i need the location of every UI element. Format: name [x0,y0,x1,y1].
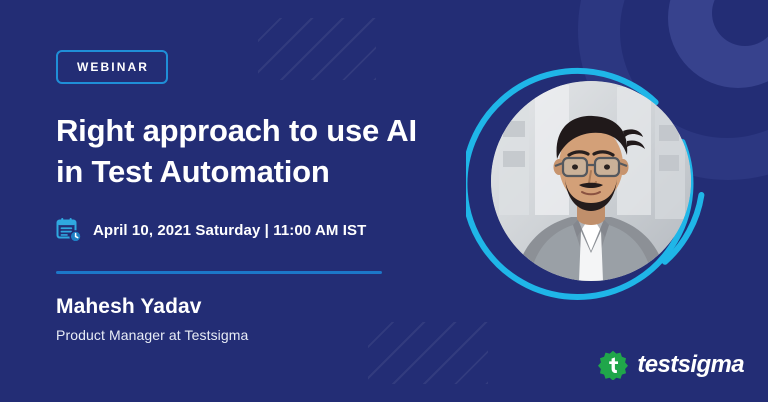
portrait-illustration [491,81,691,281]
datetime-row: April 10, 2021 Saturday | 11:00 AM IST [56,217,456,243]
testsigma-logo: testsigma [598,350,744,380]
webinar-banner: WEBINAR Right approach to use AI in Test… [0,0,768,402]
datetime-text: April 10, 2021 Saturday | 11:00 AM IST [93,222,366,239]
page-title: Right approach to use AI in Test Automat… [56,110,456,192]
webinar-badge: WEBINAR [56,50,168,84]
content-column: WEBINAR Right approach to use AI in Test… [56,50,456,343]
speaker-role: Product Manager at Testsigma [56,327,456,343]
title-line-2: in Test Automation [56,151,456,192]
speaker-photo [491,81,691,281]
testsigma-gear-icon [598,350,628,380]
title-line-1: Right approach to use AI [56,110,456,151]
calendar-clock-icon [56,217,82,243]
testsigma-wordmark: testsigma [637,351,744,379]
ring-inner [712,0,768,46]
section-divider [56,271,382,274]
speaker-name: Mahesh Yadav [56,295,456,319]
speaker-portrait-wrapper [466,56,716,306]
